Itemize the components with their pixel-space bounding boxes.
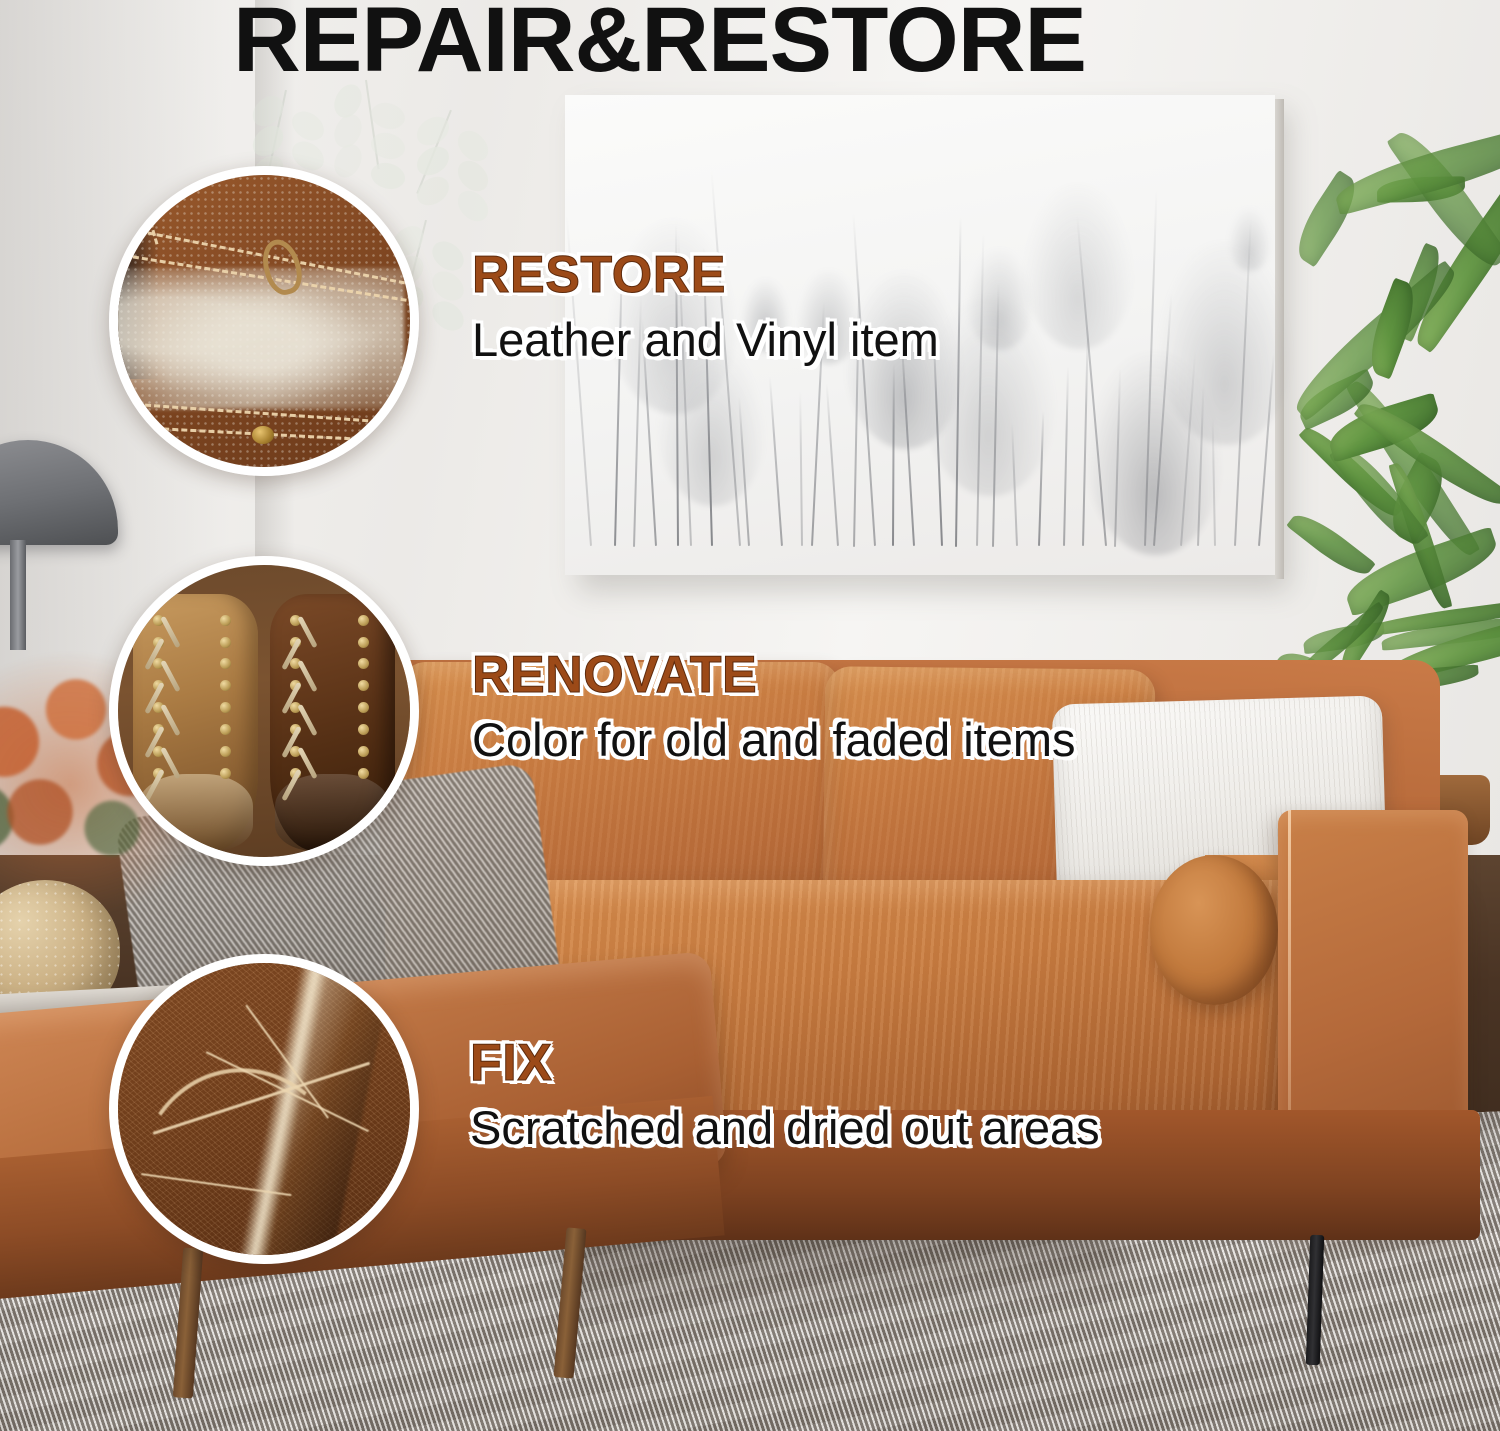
art-stroke [826, 383, 839, 546]
boots-image [118, 565, 410, 857]
boot-eyelet [358, 768, 369, 779]
boot-eyelet [358, 658, 369, 669]
boot-restored [270, 594, 396, 851]
boot-lace [298, 704, 318, 736]
boot-faded [133, 594, 259, 851]
feature-block-restore: RESTORE Leather and Vinyl item [472, 248, 939, 365]
leather-boots-before-after-thumbnail [109, 556, 419, 866]
eucalyptus-leaf [427, 295, 468, 338]
bolster-cushion [1150, 855, 1278, 1005]
art-bloom [1228, 208, 1270, 271]
feature-kicker-restore: RESTORE [472, 248, 939, 303]
boot-eyelet [220, 680, 231, 691]
eucalyptus-leaf [413, 143, 453, 178]
boot-eyelet [358, 746, 369, 757]
plant-leaf [1286, 506, 1375, 583]
art-stroke [799, 392, 803, 546]
art-bloom [1023, 184, 1133, 349]
boot-eyelet [358, 724, 369, 735]
boot-eyelet [220, 702, 231, 713]
boot-eyelet [220, 637, 231, 648]
boot-eyelet [220, 768, 231, 779]
scratched-leather-image [118, 963, 410, 1255]
art-stroke [769, 376, 783, 546]
product-feature-poster: /* strokes injected below */ [0, 0, 1500, 1431]
feature-subtitle-renovate: Color for old and faded items [472, 715, 1076, 766]
boot-eyelet [220, 615, 231, 626]
mouldy-leather-bag-thumbnail [109, 166, 419, 476]
feature-block-renovate: RENOVATE Color for old and faded items [472, 648, 1076, 765]
art-stroke [1063, 366, 1069, 546]
feature-subtitle-fix: Scratched and dried out areas [470, 1103, 1100, 1154]
boot-lace [298, 660, 318, 692]
bag-image [118, 175, 410, 467]
feature-kicker-fix: FIX [470, 1036, 1100, 1091]
eucalyptus-leaf [454, 185, 493, 227]
art-bloom [1157, 242, 1292, 445]
feature-block-fix: FIX Scratched and dried out areas [470, 1036, 1100, 1153]
mould-speckle [118, 175, 410, 467]
boot-eyelet [358, 637, 369, 648]
boot-eyelet [358, 615, 369, 626]
eucalyptus-leaf [247, 122, 289, 161]
feature-kicker-renovate: RENOVATE [472, 648, 1076, 703]
boot-eyelet [358, 680, 369, 691]
eucalyptus-leaf [413, 173, 453, 208]
boot-eyelet [220, 724, 231, 735]
art-bloom [657, 345, 765, 507]
feature-subtitle-restore: Leather and Vinyl item [472, 315, 939, 366]
boot-eyelet [220, 658, 231, 669]
boot-eyelet [358, 702, 369, 713]
table-lamp-stem [10, 540, 26, 650]
boot-eyelet [220, 746, 231, 757]
page-title: REPAIR&RESTORE [233, 0, 1304, 86]
scratched-leather-thumbnail [109, 954, 419, 1264]
